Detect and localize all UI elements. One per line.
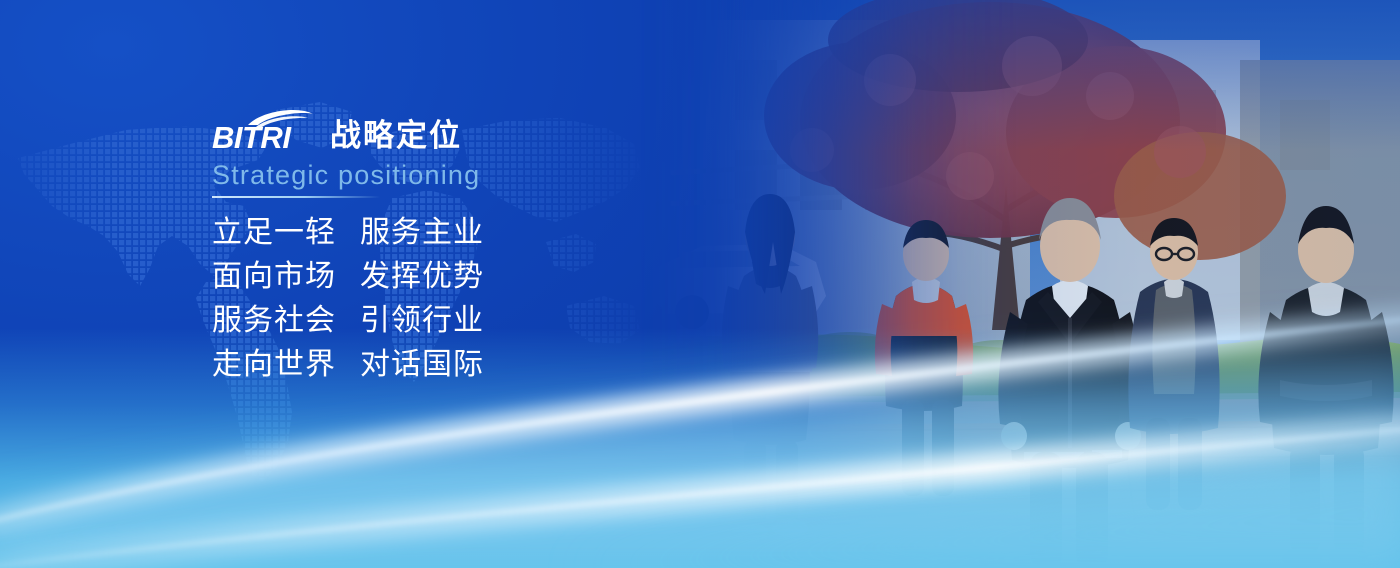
slogan-left: 走向世界 — [212, 350, 360, 380]
slogan-row: 走向世界 对话国际 — [212, 350, 732, 380]
slogan-row: 立足一轻 服务主业 — [212, 218, 732, 248]
slogan-left: 服务社会 — [212, 306, 360, 336]
slogan-left: 面向市场 — [212, 262, 360, 292]
slogan-left: 立足一轻 — [212, 218, 360, 248]
slogan-row: 面向市场 发挥优势 — [212, 262, 732, 292]
bitri-logo: BITRI — [212, 108, 316, 152]
slogan-right: 发挥优势 — [360, 262, 508, 292]
slogan-row: 服务社会 引领行业 — [212, 306, 732, 336]
brand-lockup: BITRI 战略定位 — [212, 108, 732, 152]
slogan-right: 引领行业 — [360, 306, 508, 336]
banner-title-cn: 战略定位 — [330, 120, 462, 152]
slogan-right: 对话国际 — [360, 350, 508, 380]
banner-subtitle-en: Strategic positioning — [212, 161, 732, 189]
banner-content: BITRI 战略定位 Strategic positioning 立足一轻 服务… — [212, 108, 732, 380]
slogan-right: 服务主业 — [360, 218, 508, 248]
slogan-list: 立足一轻 服务主业 面向市场 发挥优势 服务社会 引领行业 走向世界 对话国际 — [212, 218, 732, 380]
strategic-positioning-banner: BITRI 战略定位 Strategic positioning 立足一轻 服务… — [0, 0, 1400, 568]
bitri-wordmark: BITRI — [212, 122, 290, 153]
title-divider — [212, 196, 380, 198]
